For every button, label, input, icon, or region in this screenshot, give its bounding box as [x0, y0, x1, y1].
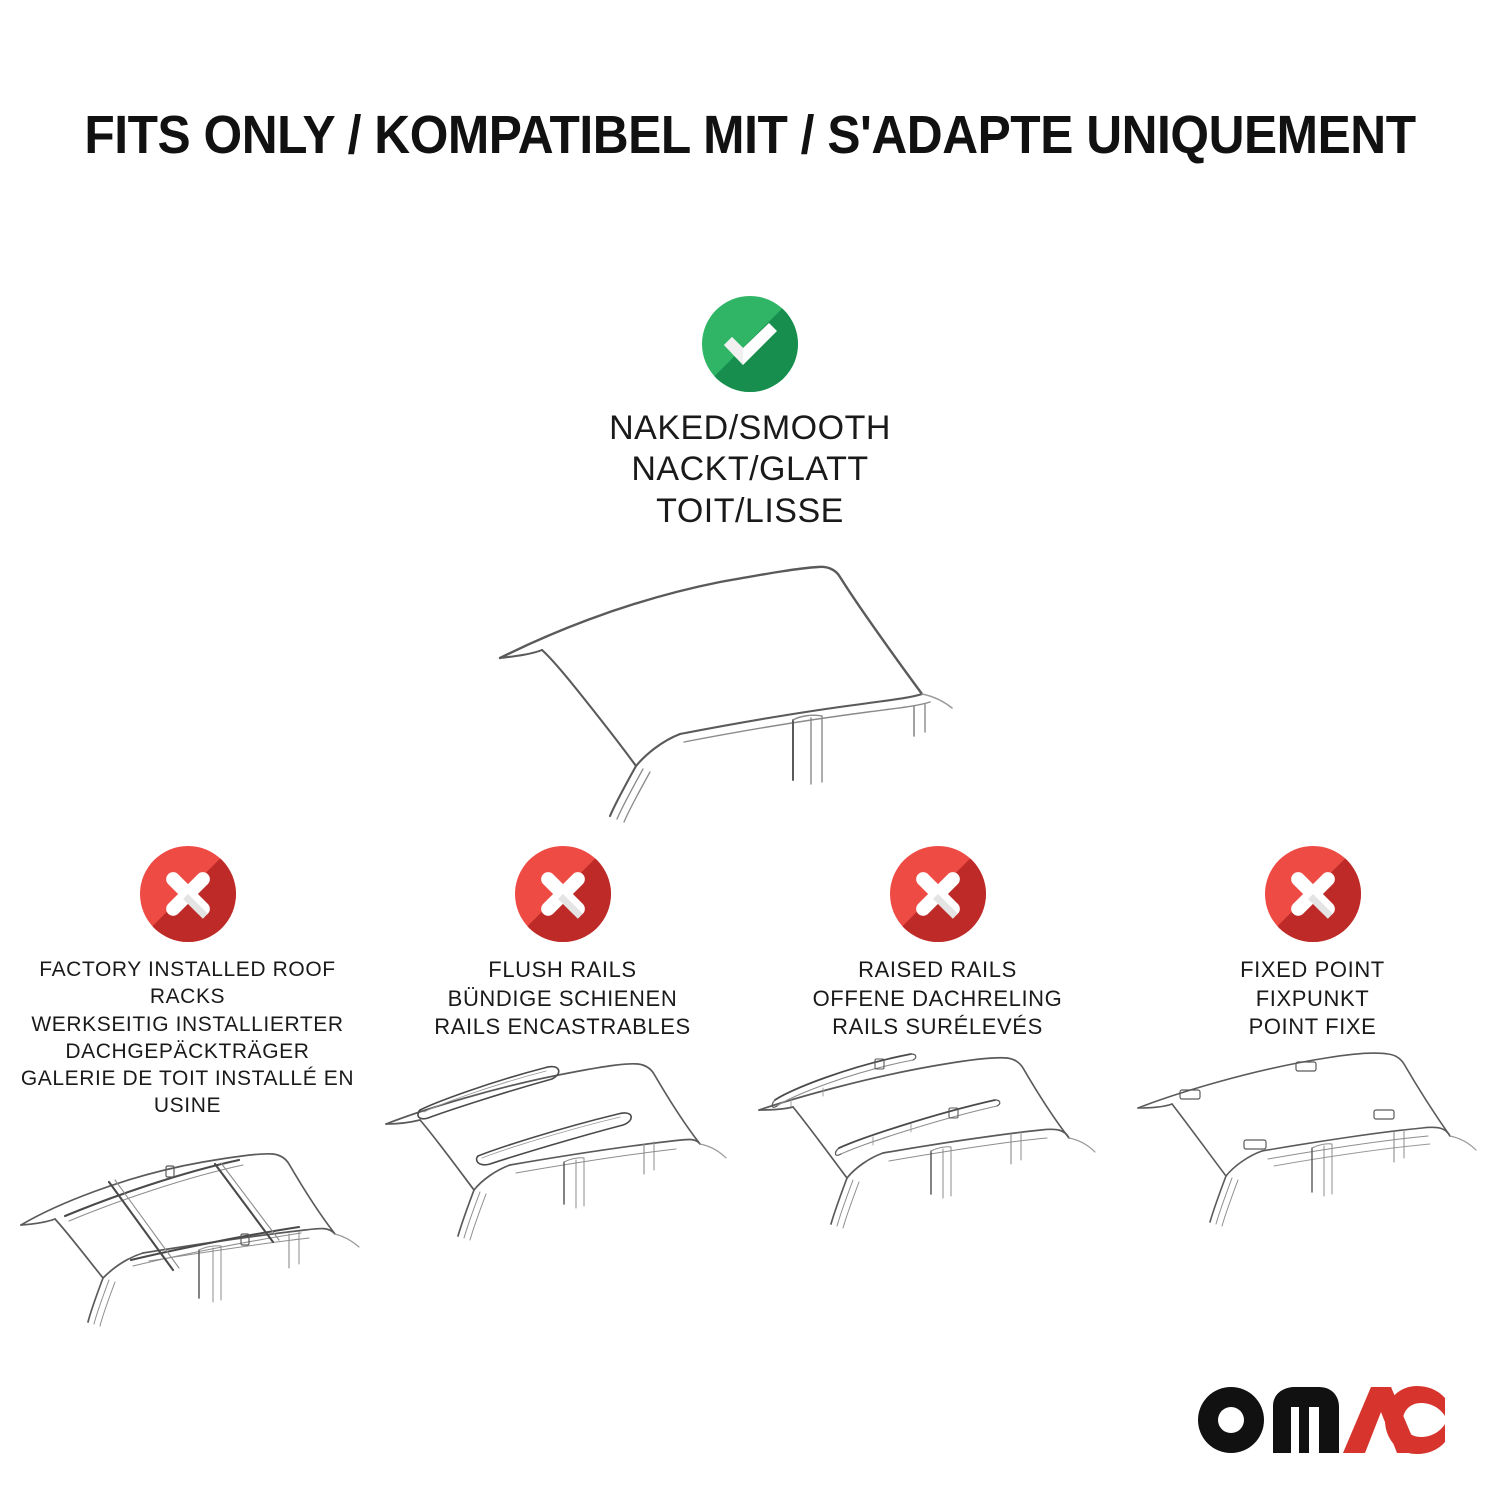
x-circle-icon: [1265, 846, 1361, 942]
x-circle-icon: [515, 846, 611, 942]
logo-letter-o: [1198, 1387, 1264, 1453]
x-circle-icon: [890, 846, 986, 942]
label-line-3: RAILS SURÉLEVÉS: [813, 1013, 1063, 1042]
not-compatible-item-fixed-point: FIXED POINT FIXPUNKT POINT FIXE: [1125, 846, 1500, 1257]
approved-fitment-section: NAKED/SMOOTH NACKT/GLATT TOIT/LISSE: [0, 296, 1500, 826]
item-labels: RAISED RAILS OFFENE DACHRELING RAILS SUR…: [813, 956, 1063, 1042]
label-line-1: RAISED RAILS: [813, 956, 1063, 985]
x-circle-icon: [140, 846, 236, 942]
not-compatible-item-raised-rails: RAISED RAILS OFFENE DACHRELING RAILS SUR…: [750, 846, 1125, 1257]
item-labels: FACTORY INSTALLED ROOF RACKS WERKSEITIG …: [0, 956, 375, 1120]
item-labels: FIXED POINT FIXPUNKT POINT FIXE: [1240, 956, 1385, 1042]
item-labels: FLUSH RAILS BÜNDIGE SCHIENEN RAILS ENCAS…: [434, 956, 691, 1042]
approved-label-de: NACKT/GLATT: [609, 449, 891, 490]
label-line-2: WERKSEITIG INSTALLIERTER: [0, 1011, 375, 1038]
not-compatible-section: FACTORY INSTALLED ROOF RACKS WERKSEITIG …: [0, 846, 1500, 1335]
approved-label-fr: TOIT/LISSE: [609, 491, 891, 532]
omac-logo: [1195, 1380, 1445, 1456]
car-roof-naked-smooth-illustration: [470, 546, 1030, 826]
label-line-3: DACHGEPÄCKTRÄGER: [0, 1038, 375, 1065]
approved-labels: NAKED/SMOOTH NACKT/GLATT TOIT/LISSE: [609, 408, 891, 532]
car-roof-raised-rails-illustration: [753, 1052, 1123, 1257]
car-roof-flush-rails-illustration: [378, 1052, 748, 1257]
label-line-2: FIXPUNKT: [1240, 985, 1385, 1014]
fitment-infographic: FITS ONLY / KOMPATIBEL MIT / S'ADAPTE UN…: [0, 0, 1500, 1500]
car-roof-factory-installed-racks-illustration: [3, 1130, 373, 1335]
label-line-4: GALERIE DE TOIT INSTALLÉ EN USINE: [0, 1065, 375, 1120]
label-line-3: RAILS ENCASTRABLES: [434, 1013, 691, 1042]
not-compatible-item-flush-rails: FLUSH RAILS BÜNDIGE SCHIENEN RAILS ENCAS…: [375, 846, 750, 1257]
logo-letter-c: [1385, 1386, 1445, 1454]
page-title: FITS ONLY / KOMPATIBEL MIT / S'ADAPTE UN…: [60, 104, 1440, 166]
check-circle-icon: [702, 296, 798, 392]
label-line-1: FACTORY INSTALLED ROOF RACKS: [0, 956, 375, 1011]
label-line-1: FIXED POINT: [1240, 956, 1385, 985]
car-roof-fixed-point-illustration: [1128, 1052, 1498, 1257]
label-line-2: BÜNDIGE SCHIENEN: [434, 985, 691, 1014]
logo-letter-m: [1273, 1387, 1339, 1453]
label-line-3: POINT FIXE: [1240, 1013, 1385, 1042]
not-compatible-item-factory-racks: FACTORY INSTALLED ROOF RACKS WERKSEITIG …: [0, 846, 375, 1335]
approved-label-en: NAKED/SMOOTH: [609, 408, 891, 449]
label-line-2: OFFENE DACHRELING: [813, 985, 1063, 1014]
label-line-1: FLUSH RAILS: [434, 956, 691, 985]
